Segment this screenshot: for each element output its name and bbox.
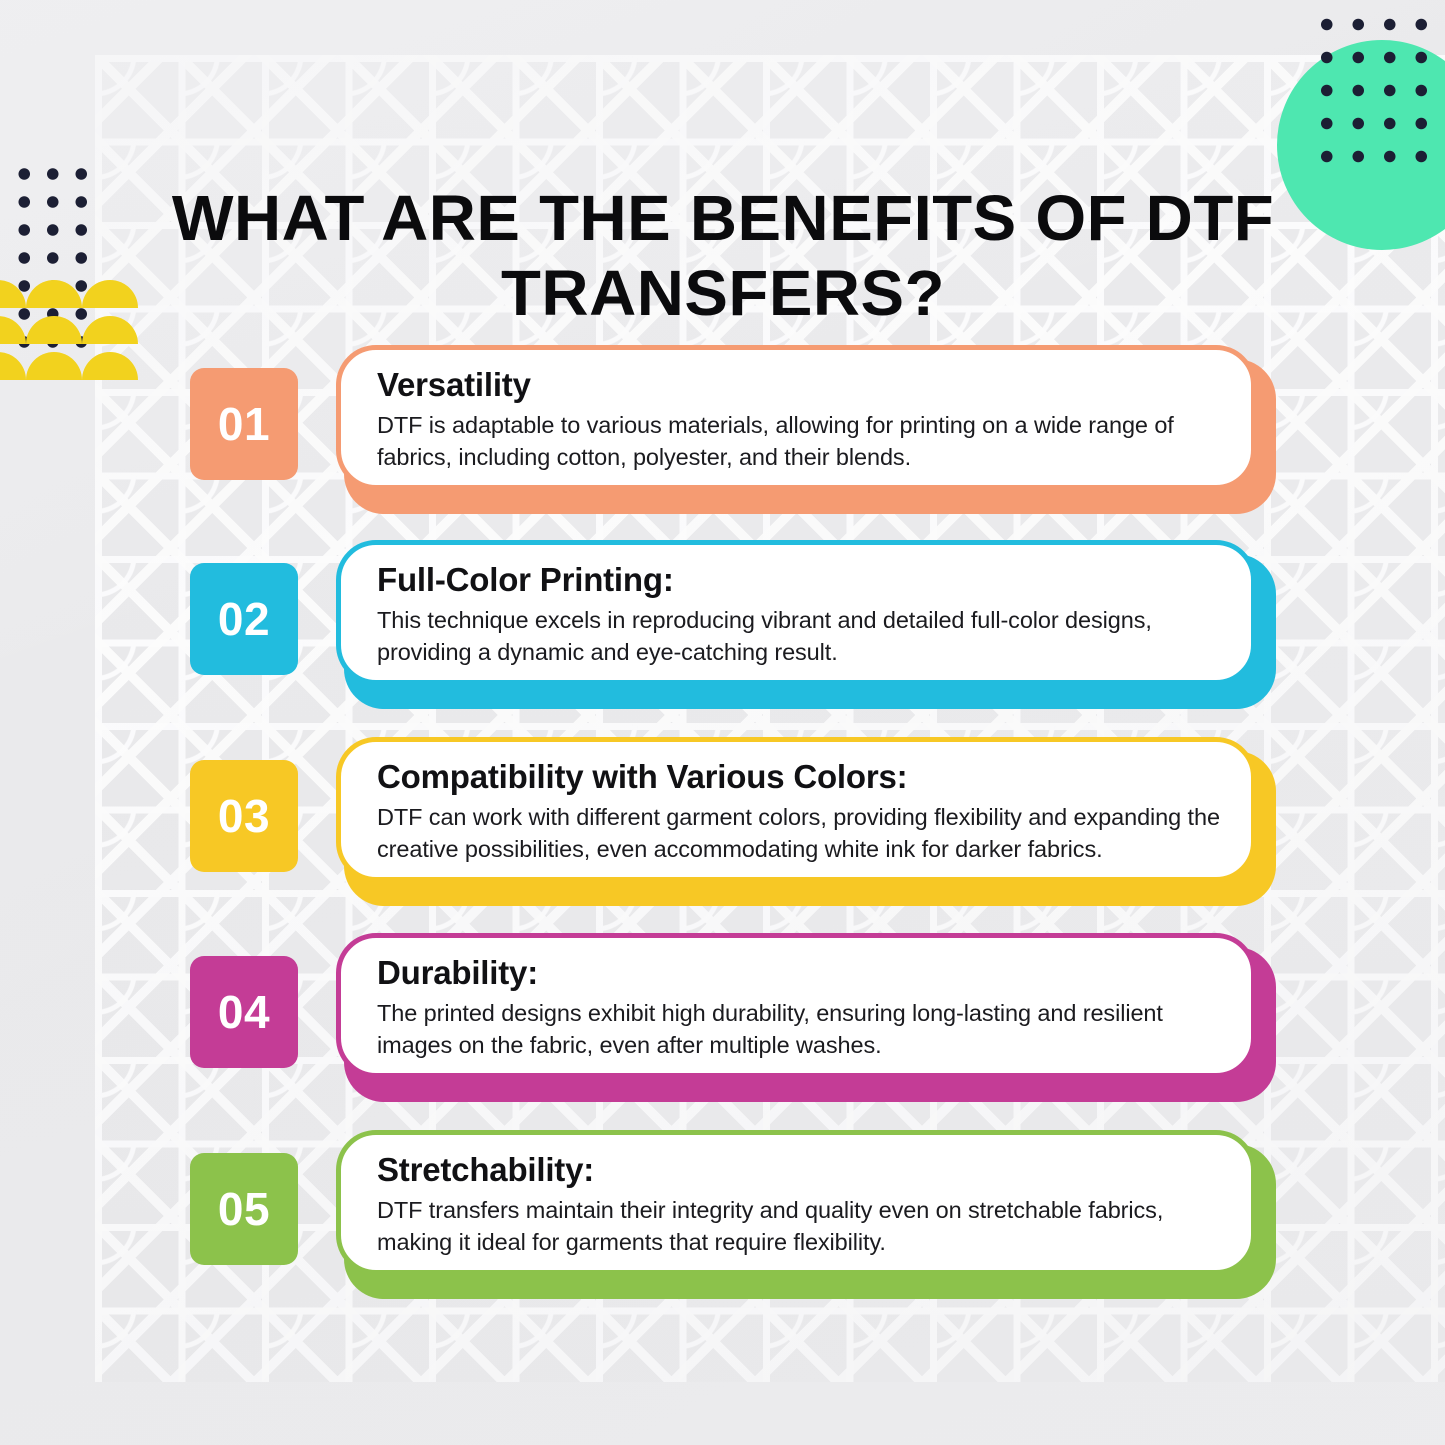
card-body: Versatility DTF is adaptable to various … [336,345,1256,490]
benefit-card-01: Versatility DTF is adaptable to various … [336,345,1268,510]
number-badge-04: 04 [190,956,298,1068]
card-description: This technique excels in reproducing vib… [377,605,1221,668]
benefits-list: 01 Versatility DTF is adaptable to vario… [0,0,1445,1445]
card-description: DTF transfers maintain their integrity a… [377,1195,1221,1258]
number-badge-01: 01 [190,368,298,480]
benefit-card-04: Durability: The printed designs exhibit … [336,933,1268,1098]
card-heading: Full-Color Printing: [377,562,1221,598]
benefit-card-03: Compatibility with Various Colors: DTF c… [336,737,1268,902]
number-badge-05: 05 [190,1153,298,1265]
card-heading: Stretchability: [377,1152,1221,1188]
benefit-row-04: 04 Durability: The printed designs exhib… [190,933,1275,1098]
infographic-poster: WHAT ARE THE BENEFITS OF DTF TRANSFERS? … [0,0,1445,1445]
card-heading: Durability: [377,955,1221,991]
card-heading: Compatibility with Various Colors: [377,759,1221,795]
card-description: DTF is adaptable to various materials, a… [377,410,1221,473]
benefit-row-03: 03 Compatibility with Various Colors: DT… [190,737,1275,902]
card-body: Compatibility with Various Colors: DTF c… [336,737,1256,882]
benefit-row-01: 01 Versatility DTF is adaptable to vario… [190,345,1275,510]
benefit-row-02: 02 Full-Color Printing: This technique e… [190,540,1275,705]
card-body: Full-Color Printing: This technique exce… [336,540,1256,685]
benefit-card-05: Stretchability: DTF transfers maintain t… [336,1130,1268,1295]
card-body: Durability: The printed designs exhibit … [336,933,1256,1078]
benefit-row-05: 05 Stretchability: DTF transfers maintai… [190,1130,1275,1295]
number-badge-03: 03 [190,760,298,872]
benefit-card-02: Full-Color Printing: This technique exce… [336,540,1268,705]
card-body: Stretchability: DTF transfers maintain t… [336,1130,1256,1275]
card-heading: Versatility [377,367,1221,403]
card-description: DTF can work with different garment colo… [377,802,1221,865]
card-description: The printed designs exhibit high durabil… [377,998,1221,1061]
number-badge-02: 02 [190,563,298,675]
